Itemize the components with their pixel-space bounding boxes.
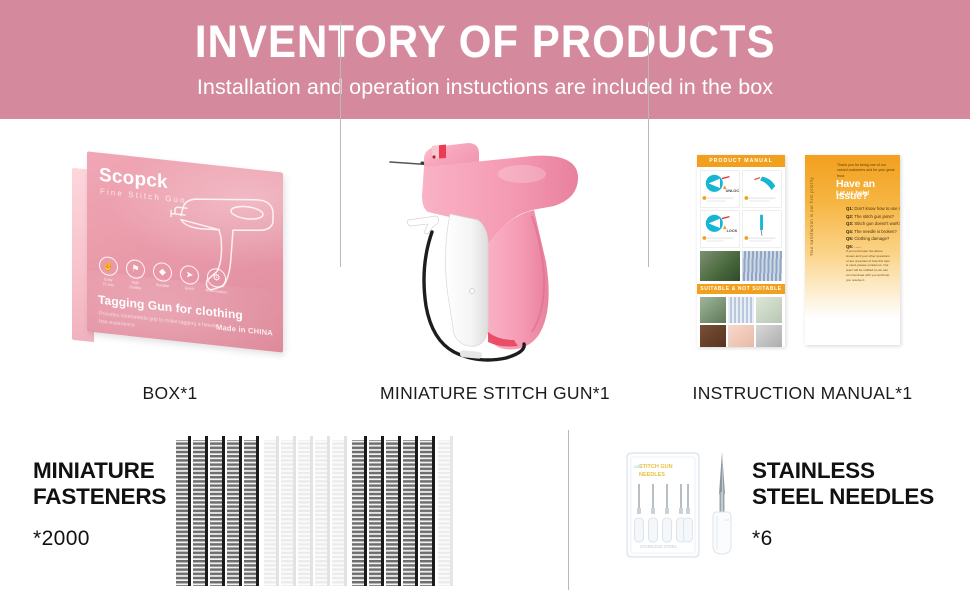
manual-swatch <box>728 297 754 323</box>
fasteners-title-line2: FASTENERS <box>33 484 166 509</box>
manual-step: UNLOCK <box>700 170 740 208</box>
manual-photo <box>700 251 740 281</box>
manual-thanks-text: Thank you for being one of our valued cu… <box>837 163 895 179</box>
fastener-group-light <box>438 436 453 586</box>
svg-text:STITCH GUN: STITCH GUN <box>639 464 673 470</box>
manual-photo <box>742 251 782 281</box>
easy-to-use-icon: ☝ <box>99 256 118 277</box>
manual-swatch <box>700 325 726 347</box>
caption-instruction-manual: INSTRUCTION MANUAL*1 <box>690 383 915 404</box>
manual-photo-row <box>697 251 785 284</box>
badge-label: High Quality <box>130 280 142 290</box>
manual-issue-title: Have an issue? <box>836 178 900 202</box>
fasteners-quantity: *2000 <box>33 527 178 551</box>
stitch-gun-image <box>382 136 602 376</box>
instruction-manual-image: PRODUCT MANUAL UNLOCK <box>697 155 902 350</box>
feature-badge: ➤ Quick <box>178 264 201 292</box>
feature-badge: ☝ Easy To Use <box>97 255 120 287</box>
manual-footer-note: If you encounter the above issues and yo… <box>846 249 892 282</box>
manual-question: Q5: Clothing damage? <box>846 235 894 243</box>
svg-text:STAINLESS STEEL: STAINLESS STEEL <box>640 544 678 549</box>
maximization-icon: ⚙ <box>207 267 226 288</box>
header-banner: INVENTORY OF PRODUCTS Installation and o… <box>0 0 970 119</box>
manual-header: PRODUCT MANUAL <box>697 155 785 167</box>
fastener-group-dark <box>176 436 259 586</box>
manual-step: LOCK <box>700 210 740 248</box>
svg-text:LOCK: LOCK <box>727 229 738 233</box>
manual-step <box>742 170 782 208</box>
infographic-page: INVENTORY OF PRODUCTS Installation and o… <box>0 0 970 600</box>
durable-icon: ◆ <box>153 262 172 283</box>
svg-text:NEEDLES: NEEDLES <box>639 472 665 478</box>
needles-title-line1: STAINLESS <box>752 458 875 483</box>
manual-side-text: Your satisfaction is our first priority <box>809 177 814 256</box>
needles-title: STAINLESS STEEL NEEDLES <box>752 458 952 511</box>
fasteners-label-group: MINIATURE FASTENERS *2000 <box>33 458 178 551</box>
manual-swatch <box>700 297 726 323</box>
needle-blister-pack: STITCH GUN NEEDLES ABC <box>626 452 700 563</box>
manual-sheet-right: Your satisfaction is our first priority … <box>805 155 900 345</box>
caption-stitch-gun: MINIATURE STITCH GUN*1 <box>370 383 620 404</box>
divider-top-left <box>340 22 341 267</box>
needles-quantity: *6 <box>752 527 952 551</box>
fasteners-title-line1: MINIATURE <box>33 458 155 483</box>
manual-steps-grid: UNLOCK <box>697 167 785 251</box>
page-subtitle: Installation and operation instuctions a… <box>197 75 773 100</box>
box-front-panel: Scopck Fine Stitch Gun <box>87 151 283 352</box>
manual-question: Q4: The needle is broken? <box>846 228 894 236</box>
svg-text:ABC: ABC <box>634 464 642 469</box>
feature-badge: ◆ Durable <box>151 261 174 289</box>
needles-title-line2: STEEL NEEDLES <box>752 484 934 509</box>
caption-box: BOX*1 <box>80 383 260 404</box>
manual-question: Q1: Don't know how to use it? <box>846 205 894 213</box>
divider-top-right <box>648 22 649 267</box>
high-quality-icon: ⚑ <box>126 259 145 280</box>
badge-label: Quick <box>185 286 195 292</box>
fasteners-title: MINIATURE FASTENERS <box>33 458 178 511</box>
single-needle-image <box>706 450 740 565</box>
manual-question-list: Q1: Don't know how to use it? Q2: The st… <box>846 205 894 250</box>
feature-badge: ⚑ High Quality <box>124 258 147 290</box>
fastener-strips-image <box>172 434 454 592</box>
badge-label: Maximization <box>205 288 227 295</box>
quick-icon: ➤ <box>180 264 199 285</box>
page-title: INVENTORY OF PRODUCTS <box>195 19 776 64</box>
manual-swatch-grid <box>697 294 785 347</box>
manual-question: Q3: Stitch gun doesn't work? <box>846 220 894 228</box>
badge-label: Durable <box>156 283 169 289</box>
feature-badge: ⚙ Maximization <box>205 267 228 295</box>
manual-swatch <box>756 325 782 347</box>
manual-sheet-left: PRODUCT MANUAL UNLOCK <box>697 155 785 347</box>
manual-swatch <box>728 325 754 347</box>
badge-label: Easy To Use <box>103 277 115 287</box>
divider-bottom <box>568 430 569 590</box>
needles-label-group: STAINLESS STEEL NEEDLES *6 <box>752 458 952 551</box>
manual-suitability-band: SUITABLE & NOT SUITABLE <box>697 284 785 294</box>
manual-swatch <box>756 297 782 323</box>
manual-question: Q2: The stitch gun jams? <box>846 213 894 221</box>
fastener-group-light <box>264 436 347 586</box>
product-box-image: Scopck Fine Stitch Gun <box>70 157 298 347</box>
manual-step <box>742 210 782 248</box>
fastener-group-dark <box>352 436 435 586</box>
svg-text:UNLOCK: UNLOCK <box>726 189 739 193</box>
manual-issue-subtitle: Let us help! <box>836 191 870 197</box>
